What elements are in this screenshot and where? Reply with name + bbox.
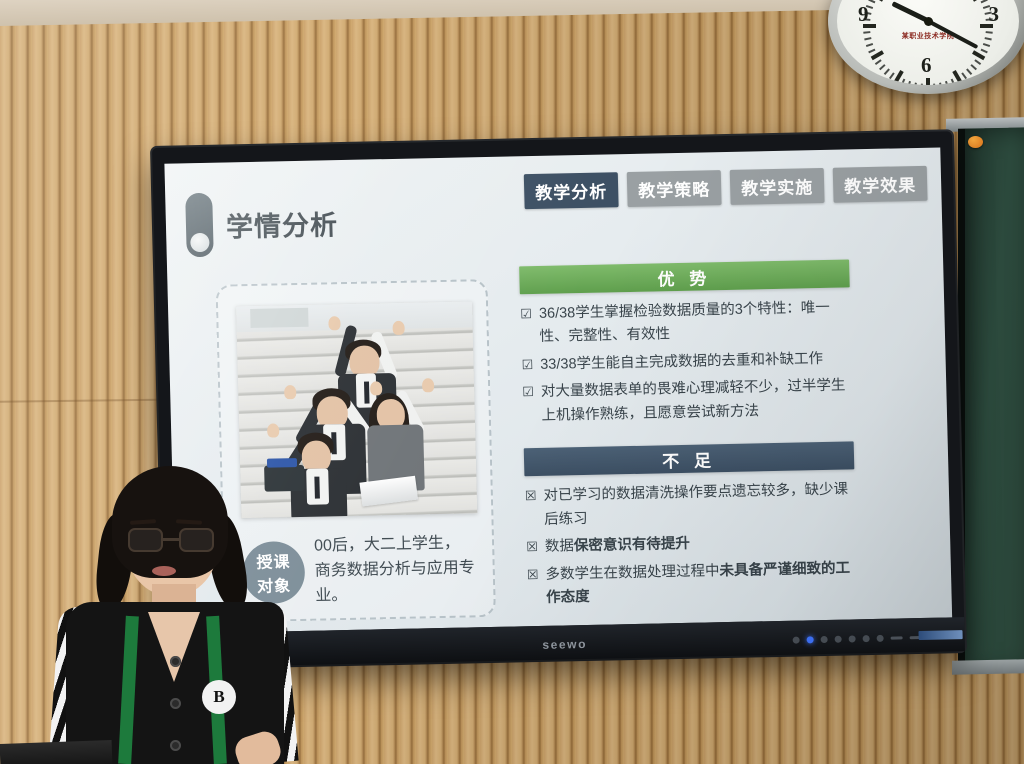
tab-teaching-effect[interactable]: 教学效果 [833,166,928,203]
analysis-column: 优 势 ☑ 36/38学生掌握检验数据质量的3个特性：唯一性、完整性、有效性 ☑… [519,259,858,615]
crossed-box-icon: ☒ [526,536,538,557]
clock-center-cap [924,17,933,26]
list-item: ☑ 对大量数据表单的畏难心理减轻不少，过半学生上机操作熟练，且愿意尝试新方法 [522,375,853,429]
presenter-mouth [152,566,176,576]
title-marker-icon [185,193,214,258]
presenter: B [60,466,290,764]
tab-teaching-analysis[interactable]: 教学分析 [524,172,619,209]
classroom-scene: 9 3 6 某职业技术学院 学情分析 教学分析 教学策略 教学实施 教学效果 [0,0,1024,764]
tab-teaching-implementation[interactable]: 教学实施 [730,168,825,205]
advantages-header: 优 势 [519,259,850,294]
shortcomings-header: 不 足 [524,442,855,477]
advantage-text-3: 对大量数据表单的畏难心理减轻不少，过半学生上机操作熟练，且愿意尝试新方法 [541,375,853,428]
shortcoming-text-1: 对已学习的数据清洗操作要点遗忘较多，缺少课后练习 [543,479,855,532]
channel-button[interactable] [863,635,870,642]
presenter-badge: B [202,680,236,714]
presenter-button-3 [170,740,181,751]
wall-clock-icon: 9 3 6 某职业技术学院 [828,0,1024,94]
volume-up-button[interactable] [849,635,856,642]
shortcoming-2-emphasis: 保密意识有待提升 [574,536,690,554]
home-button[interactable] [877,635,884,642]
shortcomings-list: ☒ 对已学习的数据清洗操作要点遗忘较多，缺少课后练习 ☒ 数据保密意识有待提升 … [525,479,858,611]
audience-caption-line1: 00后，大二上学生， [314,531,481,559]
glasses-icon [128,528,214,552]
clock-numeral-9: 9 [858,2,869,27]
crossed-box-icon: ☒ [525,485,537,506]
chalkboard-frame-bottom [952,659,1024,675]
checked-box-icon: ☑ [522,382,534,403]
page-title: 学情分析 [225,203,338,244]
port-slot-1 [891,636,903,639]
volume-down-button[interactable] [835,636,842,643]
advantage-text-1: 36/38学生掌握检验数据质量的3个特性：唯一性、完整性、有效性 [539,296,851,349]
menu-button[interactable] [793,637,800,644]
audience-caption-line2: 商务数据分析与应用专业。 [314,556,481,609]
shortcoming-2-prefix: 数据 [545,539,574,556]
slide-tab-bar[interactable]: 教学分析 教学策略 教学实施 教学效果 [524,166,928,209]
shortcoming-text-3: 多数学生在数据处理过程中未具备严谨细致的工作态度 [545,557,857,610]
podium [0,740,112,764]
list-item: ☒ 对已学习的数据清洗操作要点遗忘较多，缺少课后练习 [525,479,856,533]
chalkboard [958,127,1024,674]
advantage-text-2: 33/38学生能自主完成数据的去重和补缺工作 [540,348,823,377]
audience-caption: 00后，大二上学生， 商务数据分析与应用专业。 [314,531,482,609]
list-item: ☑ 33/38学生能自主完成数据的去重和补缺工作 [521,347,852,377]
list-item: ☒ 数据保密意识有待提升 [526,530,857,560]
advantages-list: ☑ 36/38学生掌握检验数据质量的3个特性：唯一性、完整性、有效性 ☑ 33/… [520,296,853,428]
power-button[interactable] [807,636,814,643]
presenter-button-1 [170,656,181,667]
list-item: ☒ 多数学生在数据处理过程中未具备严谨细致的工作态度 [527,557,858,611]
checked-box-icon: ☑ [520,303,532,324]
source-button[interactable] [821,636,828,643]
checked-box-icon: ☑ [521,354,533,375]
shortcoming-3-prefix: 多数学生在数据处理过程中 [545,563,719,583]
crossed-box-icon: ☒ [527,564,539,585]
presenter-button-2 [170,698,181,709]
clock-numeral-3: 3 [989,2,1000,27]
magnet-icon [968,136,983,148]
tab-teaching-strategy[interactable]: 教学策略 [627,170,722,207]
shortcoming-text-2: 数据保密意识有待提升 [545,533,691,560]
ir-sensor-strip [918,630,962,640]
list-item: ☑ 36/38学生掌握检验数据质量的3个特性：唯一性、完整性、有效性 [520,296,851,350]
clock-numeral-6: 6 [921,53,932,78]
display-brand-label: seewo [542,637,587,652]
